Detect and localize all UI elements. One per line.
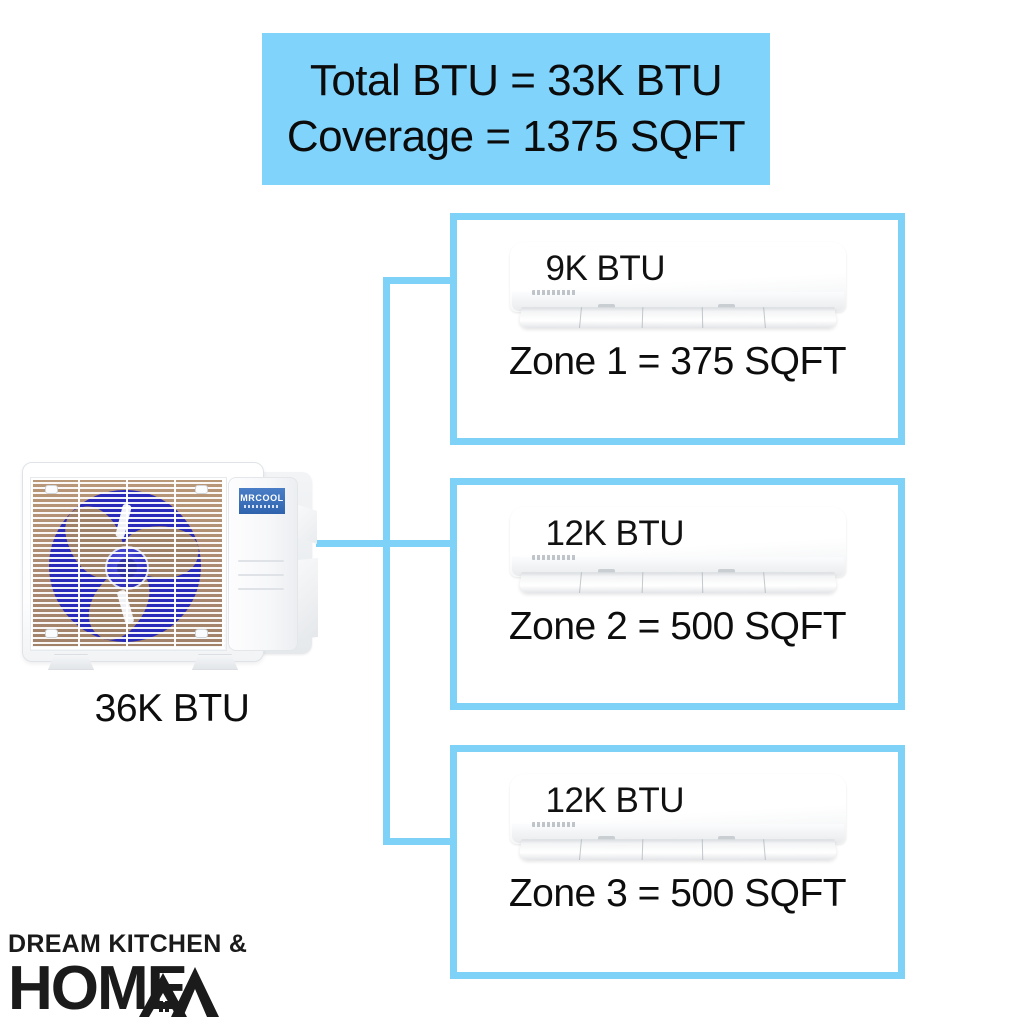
- zone-2-caption: Zone 2 = 500 SQFT: [509, 605, 846, 649]
- louver-divider: [701, 572, 702, 593]
- condenser-side-panel: MRCOOL: [228, 477, 298, 651]
- louver-divider: [701, 839, 702, 860]
- connector-branch-zone-3: [383, 838, 455, 845]
- louver-divider: [578, 839, 581, 860]
- zone-3-btu-label: 12K BTU: [546, 781, 685, 821]
- summary-banner: Total BTU = 33K BTU Coverage = 1375 SQFT: [262, 33, 770, 185]
- mrcool-badge-tagline: [244, 505, 280, 508]
- condenser-foot: [192, 654, 238, 670]
- louver-divider: [641, 572, 643, 593]
- connector-trunk-vertical: [383, 277, 390, 845]
- air-handler-louver: [518, 572, 837, 593]
- condenser-screw: [195, 629, 208, 638]
- brand-logo-line-2: HOME: [8, 961, 268, 1017]
- condenser-screw: [45, 629, 58, 638]
- condenser-shell: MRCOOL: [22, 462, 264, 662]
- condenser-vent-slot: [238, 560, 284, 562]
- indoor-air-handler-1: 9K BTU: [510, 242, 846, 334]
- mrcool-logo-icon: [532, 290, 576, 295]
- louver-divider: [763, 572, 766, 593]
- total-btu-text: Total BTU = 33K BTU: [310, 53, 722, 109]
- mrcool-logo-icon: [532, 555, 576, 560]
- louver-divider: [578, 307, 581, 328]
- brand-logo: DREAM KITCHEN & HOME: [8, 932, 268, 1017]
- zone-card-3[interactable]: 12K BTU Zone 3 = 500 SQFT: [450, 745, 905, 979]
- louver-divider: [641, 839, 643, 860]
- zone-3-caption: Zone 3 = 500 SQFT: [509, 872, 846, 916]
- connector-trunk-stub: [316, 540, 390, 547]
- mrcool-badge: MRCOOL: [239, 488, 285, 514]
- brand-logo-line-2-wrap: HOME: [8, 961, 268, 1017]
- louver-divider: [578, 572, 581, 593]
- zone-card-1[interactable]: 9K BTU Zone 1 = 375 SQFT: [450, 213, 905, 445]
- condenser-foot: [48, 654, 94, 670]
- louver-divider: [701, 307, 702, 328]
- connector-branch-zone-2: [383, 540, 455, 547]
- mrcool-logo-icon: [532, 822, 576, 827]
- air-handler-louver: [518, 839, 837, 860]
- louver-divider: [763, 307, 766, 328]
- condenser-btu-label: 36K BTU: [22, 687, 322, 731]
- condenser-vent-slot: [238, 574, 284, 576]
- louver-divider: [763, 839, 766, 860]
- condenser-screw: [195, 485, 208, 494]
- indoor-air-handler-3: 12K BTU: [510, 774, 846, 866]
- condenser-grille-frame: [30, 477, 227, 651]
- connector-branch-zone-1: [383, 277, 455, 284]
- zone-card-2[interactable]: 12K BTU Zone 2 = 500 SQFT: [450, 478, 905, 710]
- indoor-air-handler-2: 12K BTU: [510, 507, 846, 599]
- mrcool-badge-text: MRCOOL: [240, 494, 284, 503]
- air-handler-louver: [518, 307, 837, 328]
- zone-1-caption: Zone 1 = 375 SQFT: [509, 340, 846, 384]
- condenser-screw: [45, 485, 58, 494]
- louver-divider: [641, 307, 643, 328]
- coverage-text: Coverage = 1375 SQFT: [287, 109, 745, 165]
- condenser-vent-slot: [238, 588, 284, 590]
- zone-2-btu-label: 12K BTU: [546, 514, 685, 554]
- zone-1-btu-label: 9K BTU: [546, 249, 666, 289]
- outdoor-condenser-unit: MRCOOL: [22, 456, 322, 676]
